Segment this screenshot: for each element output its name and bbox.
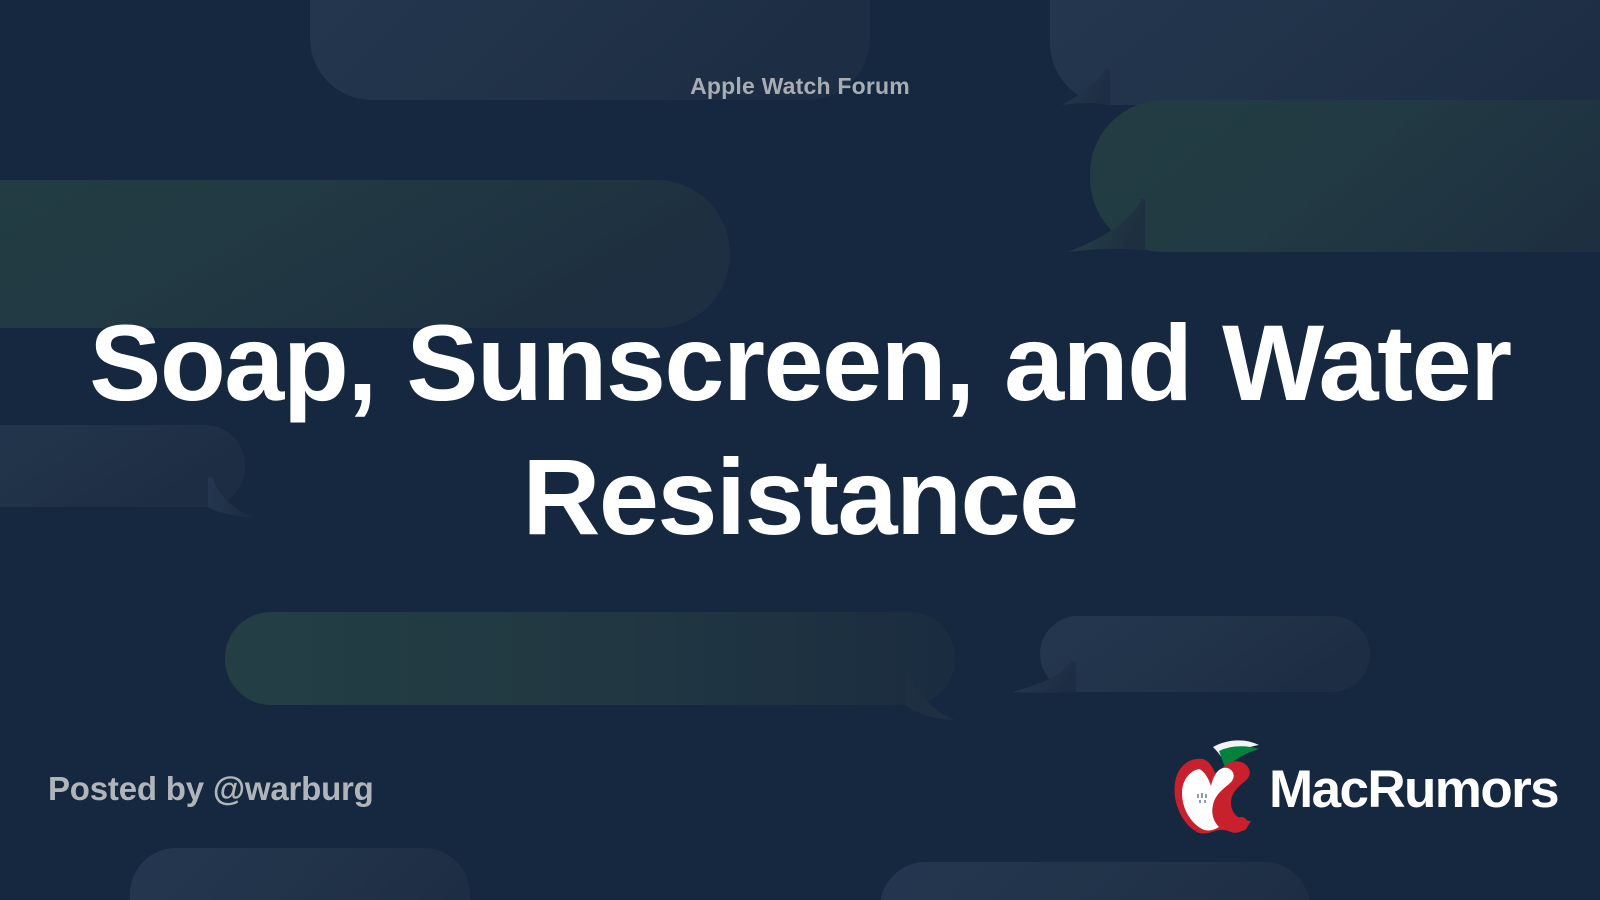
posted-by-label: Posted by @warburg bbox=[48, 770, 374, 808]
macrumors-brand-name: MacRumors bbox=[1269, 763, 1558, 816]
page-title-line-1: Soap, Sunscreen, and bbox=[89, 302, 1191, 423]
forum-label: Apple Watch Forum bbox=[0, 73, 1600, 100]
macrumors-apple-question-mark-logo bbox=[1169, 737, 1265, 837]
macrumors-brand-lockup[interactable]: MacRumors bbox=[1169, 737, 1558, 837]
page-title-text: Soap, Sunscreen, and Water Resistance bbox=[80, 296, 1520, 564]
share-card: Apple Watch Forum Soap, Sunscreen, and W… bbox=[0, 0, 1600, 900]
page-title: Soap, Sunscreen, and Water Resistance bbox=[80, 296, 1520, 564]
